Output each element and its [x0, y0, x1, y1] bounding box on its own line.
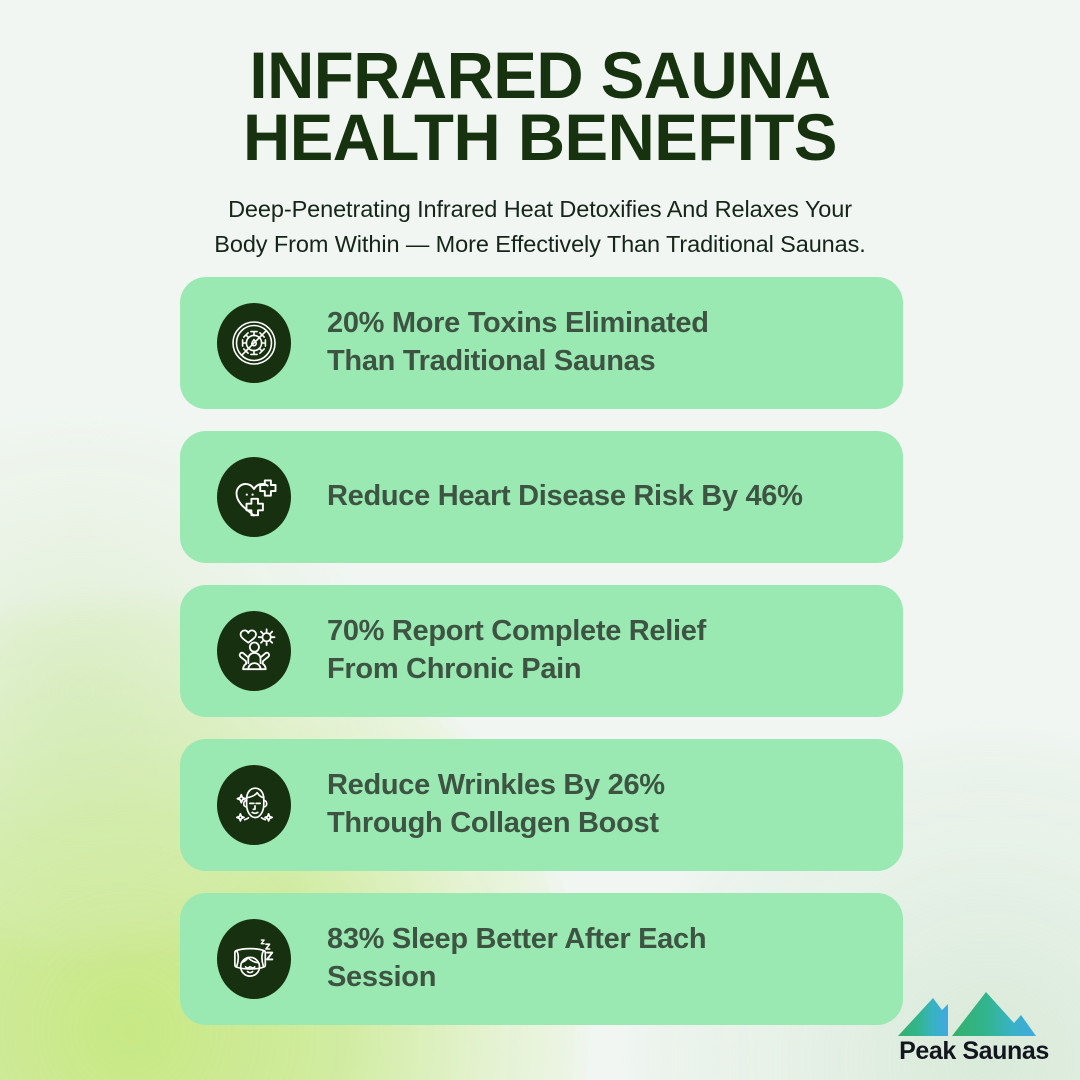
benefit-text: Reduce Heart Disease Risk By 46% [327, 478, 803, 516]
benefit-card[interactable]: 70% Report Complete Relief From Chronic … [180, 585, 903, 717]
benefits-list: 20% More Toxins Eliminated Than Traditio… [180, 277, 903, 1047]
benefit-card[interactable]: Reduce Heart Disease Risk By 46% [180, 431, 903, 563]
subtitle: Deep-Penetrating Infrared Heat Detoxifie… [0, 192, 1080, 261]
benefit-text-line-2: Through Collagen Boost [327, 805, 665, 843]
benefit-text-line-2: Than Traditional Saunas [327, 343, 709, 381]
subtitle-line-1: Deep-Penetrating Infrared Heat Detoxifie… [0, 192, 1080, 227]
glowing-face-sparkles-icon [217, 765, 291, 845]
subtitle-line-2: Body From Within — More Effectively Than… [0, 227, 1080, 262]
benefit-text-line-1: Reduce Wrinkles By 26% [327, 767, 665, 805]
title-line-1: INFRARED SAUNA [5, 44, 1074, 106]
meditating-person-icon [217, 611, 291, 691]
benefit-text-line-2: Session [327, 959, 706, 997]
benefit-text-line-1: Reduce Heart Disease Risk By 46% [327, 478, 803, 516]
title-line-2: HEALTH BENEFITS [5, 106, 1074, 168]
benefit-text: Reduce Wrinkles By 26% Through Collagen … [327, 767, 665, 842]
page-title: INFRARED SAUNA HEALTH BENEFITS [5, 44, 1074, 168]
benefit-card[interactable]: 20% More Toxins Eliminated Than Traditio… [180, 277, 903, 409]
brand-name: Peak Saunas [890, 1039, 1058, 1064]
no-toxins-virus-icon [217, 303, 291, 383]
header: INFRARED SAUNA HEALTH BENEFITS Deep-Pene… [0, 0, 1080, 261]
infographic-poster: INFRARED SAUNA HEALTH BENEFITS Deep-Pene… [0, 0, 1080, 1080]
mountain-peaks-icon [890, 990, 1058, 1038]
benefit-text-line-1: 83% Sleep Better After Each [327, 921, 706, 959]
benefit-text: 83% Sleep Better After Each Session [327, 921, 706, 996]
benefit-text-line-1: 20% More Toxins Eliminated [327, 305, 709, 343]
heart-medical-cross-icon [217, 457, 291, 537]
benefit-text: 20% More Toxins Eliminated Than Traditio… [327, 305, 709, 380]
benefit-text-line-1: 70% Report Complete Relief [327, 613, 706, 651]
benefit-card[interactable]: Reduce Wrinkles By 26% Through Collagen … [180, 739, 903, 871]
brand-logo[interactable]: Peak Saunas [890, 990, 1058, 1064]
benefit-text-line-2: From Chronic Pain [327, 651, 706, 689]
benefit-card[interactable]: 83% Sleep Better After Each Session [180, 893, 903, 1025]
benefit-text: 70% Report Complete Relief From Chronic … [327, 613, 706, 688]
sleeping-face-pillow-icon [217, 919, 291, 999]
